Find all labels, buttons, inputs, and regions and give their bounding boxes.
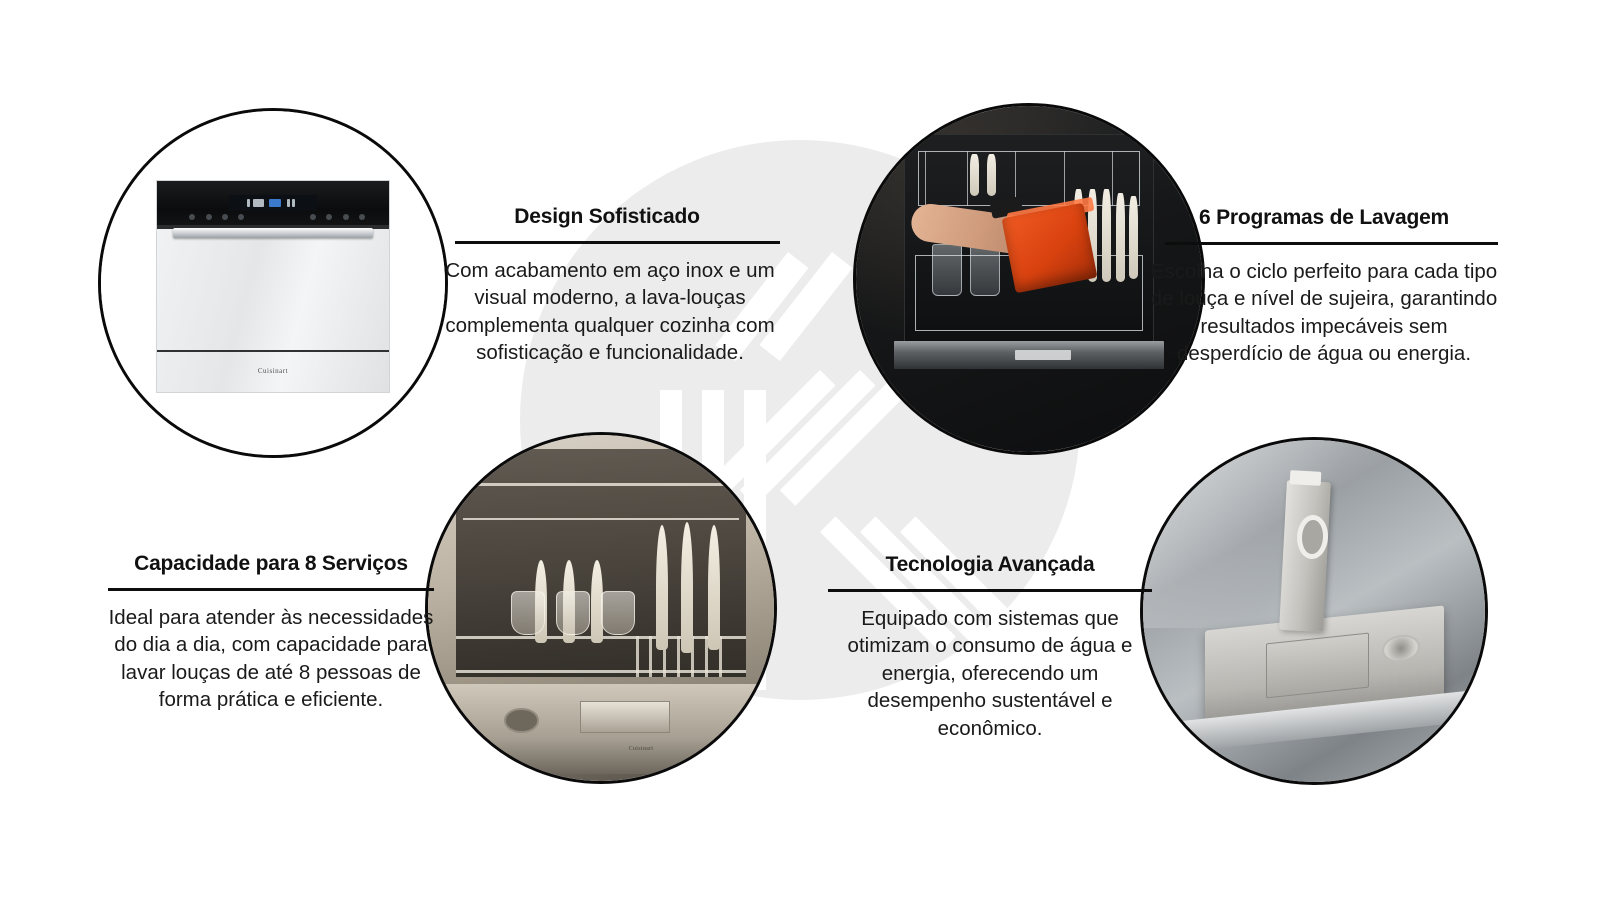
door-handle — [173, 228, 372, 238]
title-divider — [1165, 242, 1498, 245]
feature-title: Capacidade para 8 Serviços — [108, 552, 434, 576]
title-divider — [828, 589, 1152, 592]
feature-body: Ideal para atender às necessidades do di… — [108, 604, 434, 714]
feature-title: Design Sofisticado — [440, 205, 780, 229]
program-touch-icon — [206, 214, 212, 220]
interior-brand-mark: Cuisinart — [629, 746, 654, 752]
loaded-racks-scene: Cuisinart — [428, 435, 774, 781]
option-touch-icon — [238, 214, 244, 220]
detergent-dispenser-photo — [1140, 437, 1488, 785]
plinth-divider — [157, 350, 389, 353]
spray-arm-module — [580, 701, 670, 732]
filter-drain — [504, 708, 539, 732]
feature-title: 6 Programas de Lavagem — [1150, 206, 1498, 230]
feature-body: Equipado com sistemas que otimizam o con… — [828, 605, 1152, 742]
detergent-cavity — [1266, 633, 1369, 699]
orange-pot — [1002, 203, 1098, 294]
eco-touch-icon — [326, 214, 332, 220]
feature-title: Tecnologia Avançada — [828, 553, 1152, 577]
door-brand-badge — [1015, 350, 1070, 360]
dispenser-scene — [1143, 440, 1485, 782]
feature-block-6-programas-de-lavagem: 6 Programas de Lavagem Escolha o ciclo p… — [1150, 206, 1498, 368]
power-touch-icon — [189, 214, 195, 220]
feature-body: Com acabamento em aço inox e um visual m… — [440, 257, 780, 367]
rinse-touch-icon — [343, 214, 349, 220]
feature-body: Escolha o ciclo perfeito para cada tipo … — [1150, 258, 1498, 368]
dishwasher-body: Cuisinart — [156, 180, 390, 393]
control-panel — [157, 181, 389, 225]
delay-touch-icon — [222, 214, 228, 220]
product-front-scene: Cuisinart — [101, 111, 445, 455]
brand-mark: Cuisinart — [157, 367, 389, 375]
product-front-photo: Cuisinart — [98, 108, 448, 458]
title-divider — [108, 588, 434, 591]
infographic-canvas: Cuisinart — [0, 0, 1600, 900]
start-touch-icon — [310, 214, 316, 220]
feature-block-capacidade-para-8-servicos: Capacidade para 8 Serviços Ideal para at… — [108, 552, 434, 714]
feature-block-design-sofisticado: Design Sofisticado Com acabamento em aço… — [440, 205, 780, 367]
feature-block-tecnologia-avancada: Tecnologia Avançada Equipado com sistema… — [828, 553, 1152, 742]
loaded-racks-photo: Cuisinart — [425, 432, 777, 784]
lid-latch-tab — [1290, 470, 1321, 485]
lock-touch-icon — [359, 214, 365, 220]
title-divider — [455, 241, 780, 244]
led-display — [229, 195, 317, 210]
